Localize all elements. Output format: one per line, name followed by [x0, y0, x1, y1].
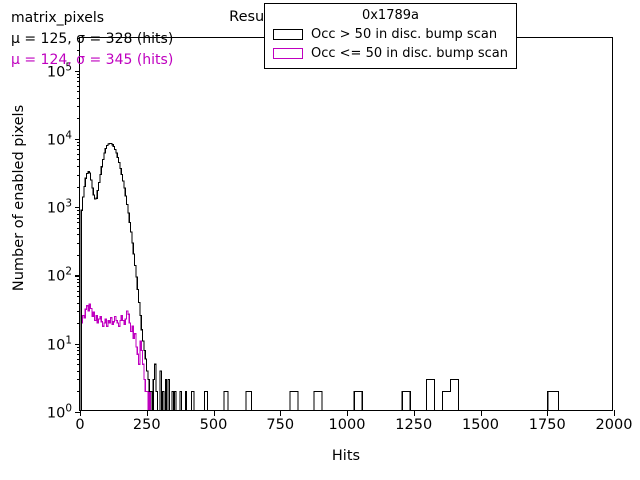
y-tick-minor: [77, 364, 80, 365]
stats-annotation: matrix_pixels μ = 125, σ = 328 (hits) μ …: [11, 8, 173, 71]
x-tick-label: 1000: [329, 417, 366, 433]
y-tick-minor: [77, 187, 80, 188]
y-tick-minor: [77, 106, 80, 107]
y-tick-label: 102: [47, 266, 72, 285]
legend-item-black[interactable]: Occ > 50 in disc. bump scan: [273, 25, 508, 44]
x-tick-label: 1750: [529, 417, 566, 433]
annotation-line-magenta: μ = 124, σ = 345 (hits): [11, 50, 173, 71]
legend-box: 0x1789a Occ > 50 in disc. bump scan Occ …: [264, 3, 517, 69]
y-tick-minor: [77, 98, 80, 99]
y-tick-minor: [77, 175, 80, 176]
y-tick-minor: [77, 228, 80, 229]
y-tick-label: 100: [47, 403, 72, 422]
legend-title: 0x1789a: [273, 8, 508, 23]
x-tick-major: [481, 410, 482, 416]
x-tick-label: 500: [200, 417, 228, 433]
y-tick-minor: [77, 282, 80, 283]
y-tick-minor: [77, 354, 80, 355]
legend-swatch-icon-black: [273, 29, 303, 40]
y-tick-minor: [77, 142, 80, 143]
y-tick-minor: [77, 154, 80, 155]
y-tick-minor: [77, 218, 80, 219]
y-tick-label: 101: [47, 334, 72, 353]
y-tick-minor: [77, 91, 80, 92]
y-tick-minor: [77, 371, 80, 372]
x-tick-label: 2000: [596, 417, 633, 433]
x-tick-major: [414, 410, 415, 416]
y-tick-major: [75, 139, 81, 140]
y-tick-minor: [77, 159, 80, 160]
y-tick-major: [75, 275, 81, 276]
y-tick-minor: [77, 210, 80, 211]
series-canvas: [80, 38, 612, 410]
y-tick-minor: [77, 149, 80, 150]
y-tick-minor: [77, 166, 80, 167]
legend-label-magenta: Occ <= 50 in disc. bump scan: [311, 46, 508, 61]
x-tick-label: 250: [133, 417, 161, 433]
y-tick-minor: [77, 379, 80, 380]
y-tick-label: 103: [47, 198, 72, 217]
y-tick-minor: [77, 234, 80, 235]
y-tick-minor: [77, 118, 80, 119]
x-tick-major: [214, 410, 215, 416]
x-tick-major: [347, 410, 348, 416]
x-axis-title: Hits: [79, 448, 613, 464]
y-tick-minor: [77, 286, 80, 287]
x-tick-major: [147, 410, 148, 416]
y-tick-minor: [77, 350, 80, 351]
y-tick-label: 104: [47, 129, 72, 148]
x-tick-major: [280, 410, 281, 416]
y-tick-minor: [77, 222, 80, 223]
y-tick-major: [75, 207, 81, 208]
legend-item-magenta[interactable]: Occ <= 50 in disc. bump scan: [273, 44, 508, 63]
legend-label-black: Occ > 50 in disc. bump scan: [311, 27, 497, 42]
y-tick-minor: [77, 255, 80, 256]
y-tick-minor: [77, 145, 80, 146]
x-tick-label: 1500: [462, 417, 499, 433]
y-tick-minor: [77, 296, 80, 297]
y-tick-minor: [77, 243, 80, 244]
y-tick-minor: [77, 77, 80, 78]
x-tick-major: [614, 410, 615, 416]
y-tick-major: [75, 344, 81, 345]
y-tick-minor: [77, 311, 80, 312]
y-tick-minor: [77, 291, 80, 292]
x-tick-major: [80, 410, 81, 416]
y-tick-minor: [77, 86, 80, 87]
y-tick-minor: [77, 347, 80, 348]
histogram-curves: [80, 38, 612, 410]
series-path-black: [80, 143, 600, 410]
x-tick-label: 750: [266, 417, 294, 433]
y-tick-minor: [77, 359, 80, 360]
plot-area: 100101102103104105 025050075010001250150…: [79, 37, 613, 411]
y-tick-minor: [77, 81, 80, 82]
y-tick-minor: [77, 323, 80, 324]
x-tick-major: [547, 410, 548, 416]
y-tick-minor: [77, 391, 80, 392]
chart-figure: Results from source scan Number of enabl…: [0, 0, 640, 480]
y-tick-minor: [77, 279, 80, 280]
x-tick-label: 0: [75, 417, 84, 433]
legend-swatch-icon-magenta: [273, 48, 303, 59]
annotation-line-dataset: matrix_pixels: [11, 8, 173, 29]
y-tick-minor: [77, 74, 80, 75]
annotation-line-black: μ = 125, σ = 328 (hits): [11, 29, 173, 50]
x-tick-label: 1250: [395, 417, 432, 433]
y-tick-minor: [77, 303, 80, 304]
y-tick-minor: [77, 214, 80, 215]
